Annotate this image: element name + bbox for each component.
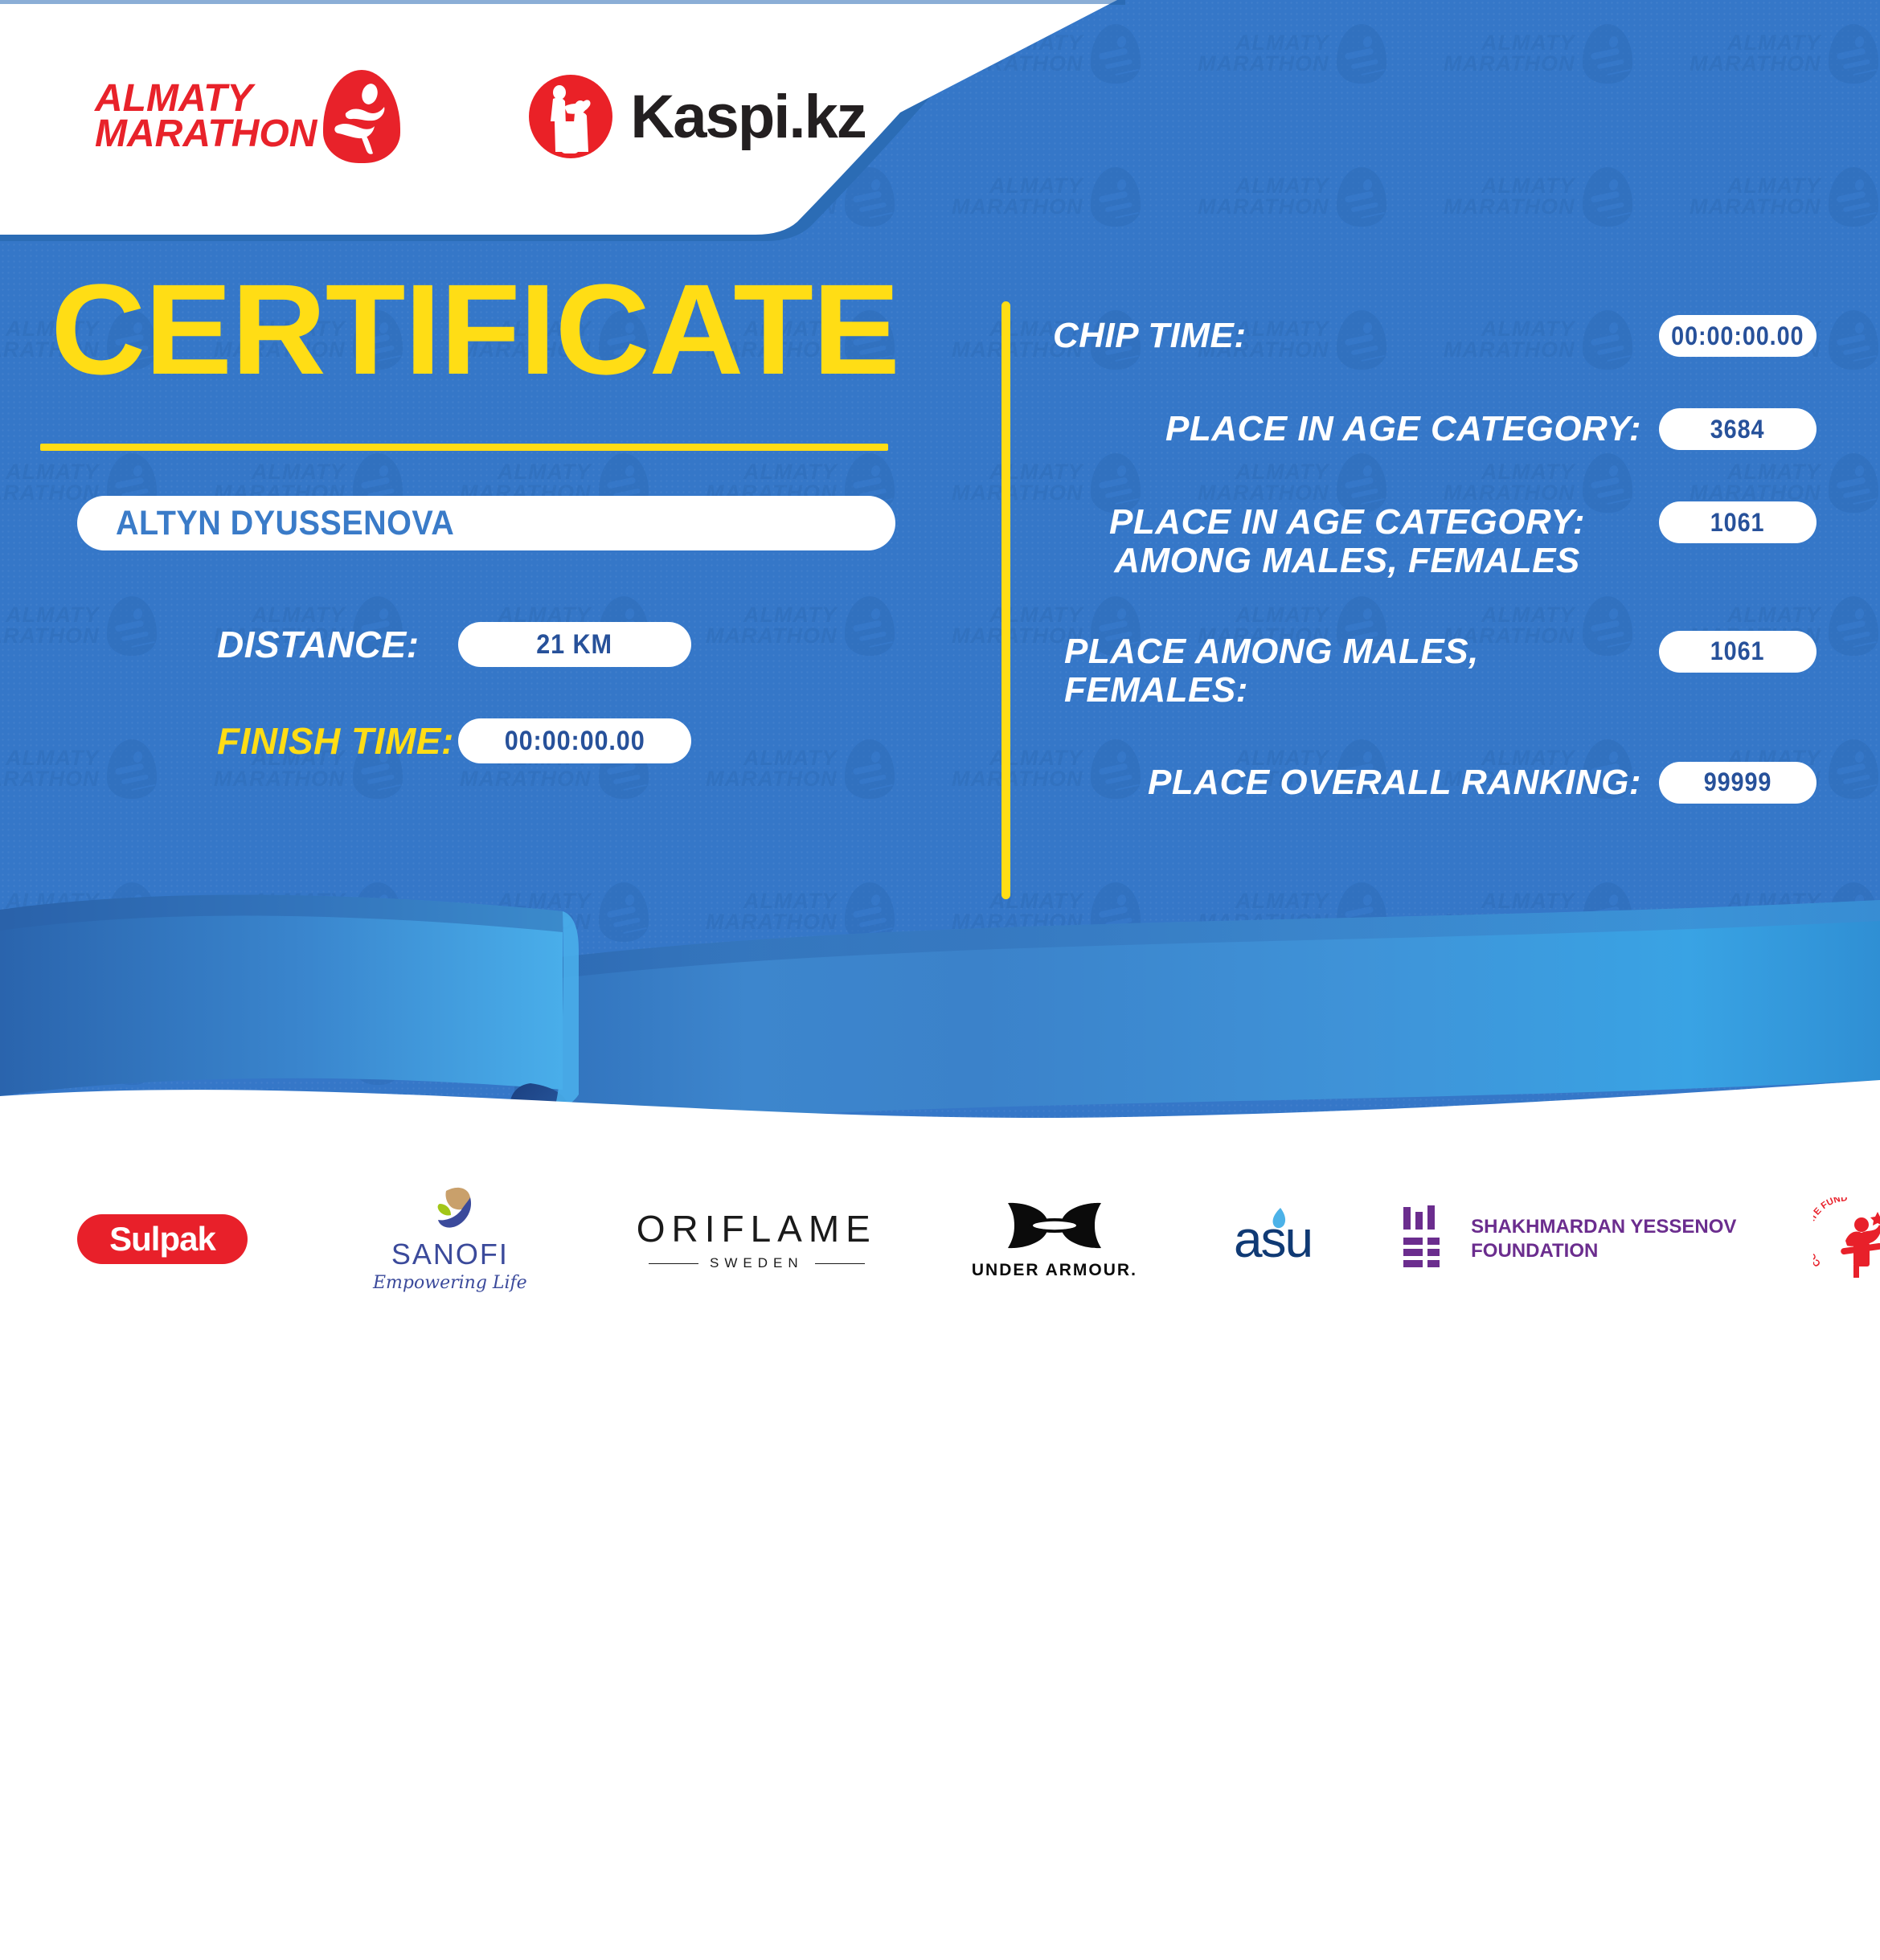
sponsor-asu: asu <box>1234 1209 1312 1269</box>
place-age-category-gender-value: 1061 <box>1710 508 1765 538</box>
yessenov-wordmark: SHAKHMARDAN YESSENOV FOUNDATION <box>1471 1215 1736 1263</box>
result-row-place-age-category-gender: PLACE IN AGE CATEGORY: AMONG MALES, FEMA… <box>1053 501 1817 581</box>
result-row-place-among-gender: PLACE AMONG MALES, FEMALES: 1061 <box>1053 631 1817 710</box>
yessenov-line1: SHAKHMARDAN YESSENOV <box>1471 1215 1736 1239</box>
ribbon-slogan: RUN FOR SENSATIONS <box>676 1781 1608 1944</box>
place-among-gender-value: 1061 <box>1710 636 1765 666</box>
almaty-marathon-line1: ALMATY <box>95 81 317 117</box>
runner-drop-icon <box>323 70 400 163</box>
place-among-gender-label: PLACE AMONG MALES, FEMALES: <box>1053 631 1641 710</box>
under-armour-logo-icon <box>1001 1198 1108 1256</box>
sponsor-strip: Sulpak SANOFI Empowering Life ORIFLAME S… <box>0 1149 1880 1329</box>
sponsor-oriflame: ORIFLAME SWEDEN <box>637 1207 877 1271</box>
finish-time-label: FINISH TIME: <box>217 719 458 763</box>
chip-time-label: CHIP TIME: <box>1053 315 1641 355</box>
finish-time-value: 00:00:00.00 <box>505 726 645 757</box>
left-stats-group: DISTANCE: 21 KM FINISH TIME: 00:00:00.00 <box>217 621 948 764</box>
place-age-category-gender-label: PLACE IN AGE CATEGORY: AMONG MALES, FEMA… <box>1053 501 1641 581</box>
place-among-gender-label-line1: PLACE AMONG MALES, <box>1064 632 1641 671</box>
kaspi-family-circle-icon <box>529 75 612 158</box>
sponsor-under-armour: UNDER ARMOUR. <box>972 1198 1137 1280</box>
place-age-category-value-pill: 3684 <box>1659 408 1817 450</box>
courage-runner-icon: CORPORATE FUND <box>1813 1197 1880 1281</box>
sponsor-shakhmardan-yessenov-foundation: SHAKHMARDAN YESSENOV FOUNDATION <box>1400 1205 1736 1273</box>
distance-label: DISTANCE: <box>217 623 458 666</box>
ribbon-shape <box>0 894 1880 1168</box>
header: ALMATY MARATHON <box>0 0 1125 241</box>
sponsor-sulpak: Sulpak <box>77 1214 248 1264</box>
ribbon-date-suffix: st <box>391 1822 446 1883</box>
place-age-category-value: 3684 <box>1710 415 1765 444</box>
place-overall-value: 99999 <box>1704 767 1772 797</box>
certificate-root: ALMATYMARATHONALMATYMARATHONALMATYMARATH… <box>0 0 1880 1329</box>
under-armour-wordmark: UNDER ARMOUR. <box>972 1261 1137 1280</box>
yessenov-bars-icon <box>1400 1205 1450 1273</box>
yessenov-line2: FOUNDATION <box>1471 1239 1736 1263</box>
athlete-name-field: ALTYN DYUSSENOVA <box>77 496 895 550</box>
result-row-place-age-category: PLACE IN AGE CATEGORY: 3684 <box>1053 408 1817 450</box>
kaspi-wordmark: Kaspi.kz <box>630 82 865 152</box>
almaty-marathon-wordmark: ALMATY MARATHON <box>95 81 317 152</box>
ribbon-date: APRIL21st <box>78 1786 451 1960</box>
sanofi-wordmark: SANOFI <box>391 1238 509 1271</box>
distance-row: DISTANCE: 21 KM <box>217 621 948 668</box>
asu-droplet-icon <box>1269 1206 1290 1234</box>
place-among-gender-value-pill: 1061 <box>1659 631 1817 673</box>
oriflame-wordmark: ORIFLAME <box>637 1207 877 1250</box>
place-among-gender-label-line2: FEMALES: <box>1064 671 1641 710</box>
sponsor-sanofi: SANOFI Empowering Life <box>373 1186 527 1293</box>
distance-value-pill: 21 KM <box>458 622 691 667</box>
asu-wordmark: asu <box>1234 1209 1312 1269</box>
chip-time-value-pill: 00:00:00.00 <box>1659 315 1817 357</box>
place-age-category-gender-value-pill: 1061 <box>1659 501 1817 543</box>
results-column: CHIP TIME: 00:00:00.00 PLACE IN AGE CATE… <box>1053 315 1817 825</box>
place-overall-label: PLACE OVERALL RANKING: <box>1053 762 1641 802</box>
left-column: CERTIFICATE ALTYN DYUSSENOVA DISTANCE: 2… <box>0 265 948 814</box>
kaspi-logo: Kaspi.kz <box>529 75 865 158</box>
place-age-category-gender-label-line1: PLACE IN AGE CATEGORY: <box>1053 503 1641 542</box>
sulpak-wordmark: Sulpak <box>109 1220 215 1258</box>
svg-text:CORPORATE FUND: CORPORATE FUND <box>1813 1197 1848 1268</box>
oriflame-subtitle: SWEDEN <box>710 1255 804 1271</box>
sulpak-logo: Sulpak <box>77 1214 248 1264</box>
place-age-category-label: PLACE IN AGE CATEGORY: <box>1053 408 1641 448</box>
finish-time-value-pill: 00:00:00.00 <box>458 718 691 763</box>
column-divider <box>1001 301 1010 899</box>
place-age-category-gender-label-line2: AMONG MALES, FEMALES <box>1053 542 1641 580</box>
certificate-title: CERTIFICATE <box>0 265 968 394</box>
place-overall-value-pill: 99999 <box>1659 762 1817 804</box>
header-logo-row: ALMATY MARATHON <box>0 0 1005 233</box>
oriflame-rule-left <box>649 1263 698 1264</box>
athlete-name-value: ALTYN DYUSSENOVA <box>116 504 454 543</box>
result-row-place-overall: PLACE OVERALL RANKING: 99999 <box>1053 762 1817 804</box>
result-row-chip-time: CHIP TIME: 00:00:00.00 <box>1053 315 1817 357</box>
sponsor-courage-to-be-the-first: CORPORATE FUND COURAGE TO BE THE FIRST! <box>1813 1197 1880 1281</box>
title-divider-rule <box>40 444 888 451</box>
ribbon-date-day: 21 <box>268 1794 403 1933</box>
almaty-marathon-line2: MARATHON <box>95 117 317 152</box>
ribbon-date-month: APRIL <box>84 1855 283 1947</box>
oriflame-subtitle-row: SWEDEN <box>649 1255 865 1271</box>
sanofi-mark-icon <box>422 1186 478 1236</box>
distance-value: 21 KM <box>537 629 613 661</box>
almaty-marathon-logo: ALMATY MARATHON <box>95 70 400 163</box>
ribbon-banner: APRIL21st RUN FOR SENSATIONS <box>0 894 1880 1159</box>
finish-time-row: FINISH TIME: 00:00:00.00 <box>217 718 948 764</box>
chip-time-value: 00:00:00.00 <box>1671 321 1804 351</box>
oriflame-rule-right <box>815 1263 865 1264</box>
sanofi-tagline: Empowering Life <box>373 1273 527 1293</box>
